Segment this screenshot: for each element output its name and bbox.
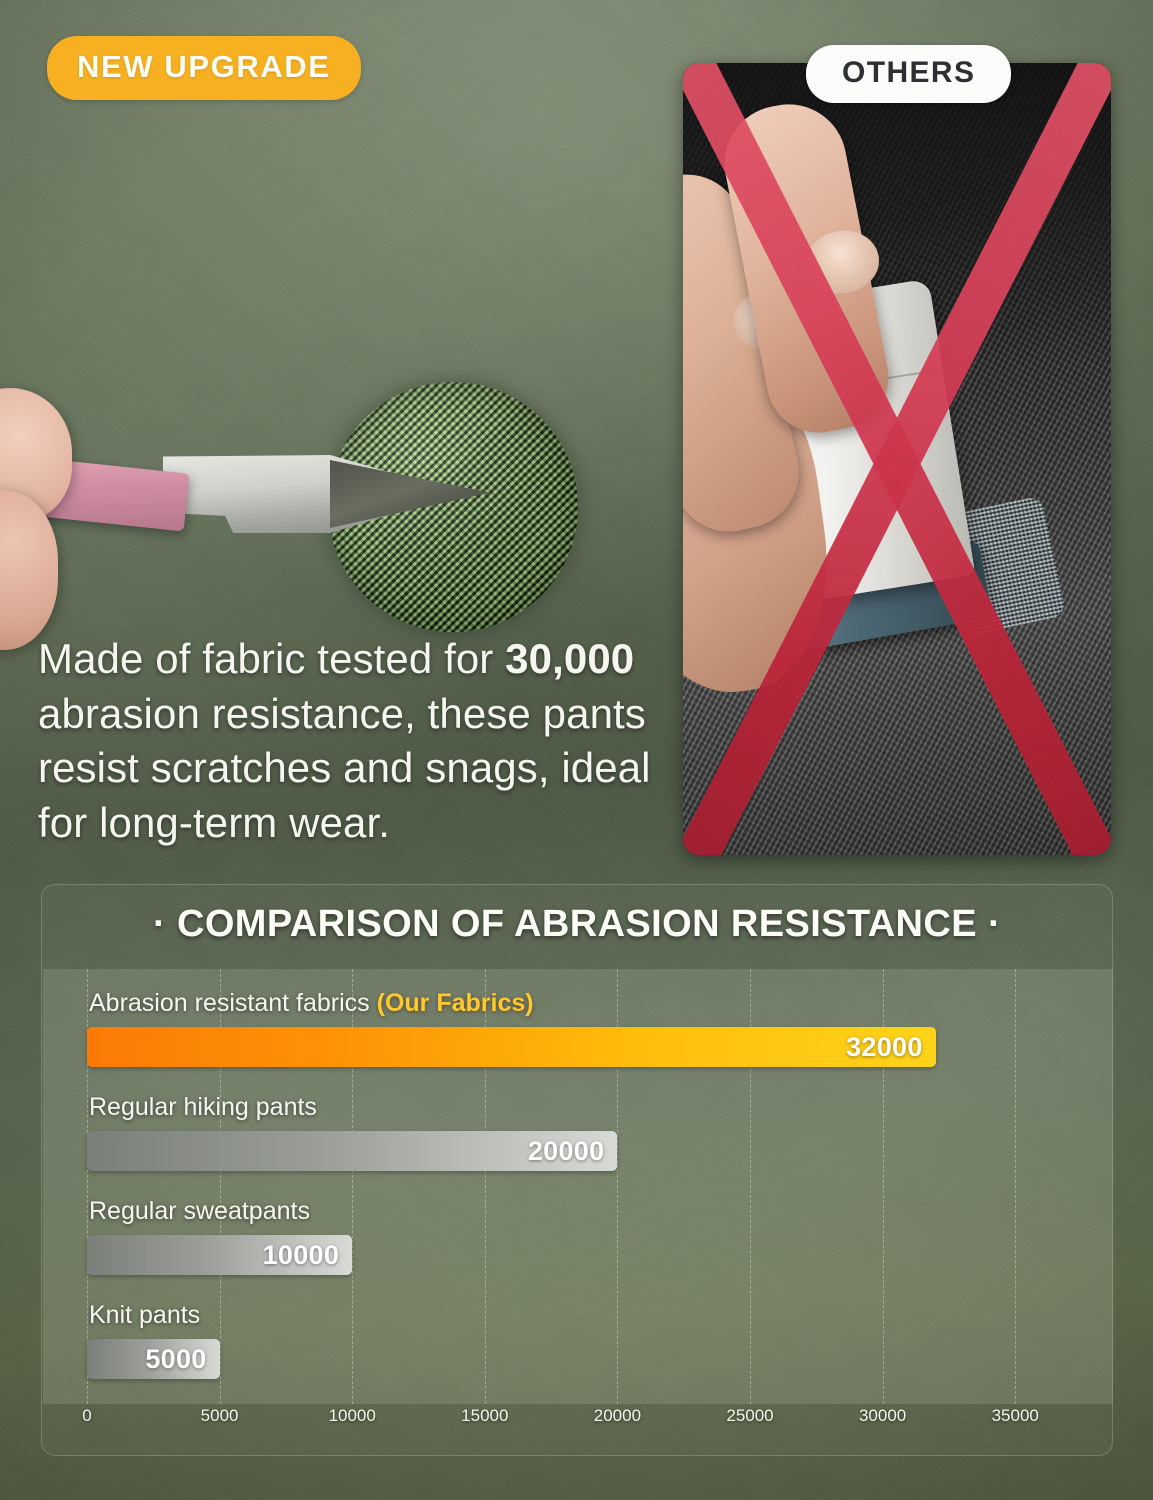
chart-bar-row: Regular hiking pants20000	[43, 1093, 1113, 1183]
bar-label-text: Regular hiking pants	[89, 1093, 317, 1121]
axis-tick-5000: 5000	[201, 1406, 239, 1426]
bar-label-text: Knit pants	[89, 1301, 200, 1329]
bar-value-label: 32000	[846, 1032, 936, 1063]
headline-text: Made of fabric tested for 30,000 abrasio…	[38, 632, 668, 850]
badge-others: OTHERS	[806, 45, 1011, 103]
axis-tick-25000: 25000	[726, 1406, 773, 1426]
bar-label: Regular hiking pants	[89, 1093, 317, 1122]
bar-label: Knit pants	[89, 1301, 200, 1330]
axis-tick-30000: 30000	[859, 1406, 906, 1426]
chart-plot-area: Abrasion resistant fabrics (Our Fabrics)…	[43, 969, 1113, 1404]
axis-tick-20000: 20000	[594, 1406, 641, 1426]
bar-label: Regular sweatpants	[89, 1197, 310, 1226]
infographic-page: NEW UPGRADE OTHERS Made of fabric tested…	[0, 0, 1153, 1500]
bar-label-text: Abrasion resistant fabrics	[89, 989, 377, 1017]
bar-label-accent: (Our Fabrics)	[377, 989, 534, 1017]
chart-bar-row: Abrasion resistant fabrics (Our Fabrics)…	[43, 989, 1113, 1079]
badge-new-upgrade: NEW UPGRADE	[47, 36, 361, 100]
headline-highlight-number: 30,000	[505, 635, 634, 682]
bar-value-label: 5000	[145, 1344, 219, 1375]
bar-label-text: Regular sweatpants	[89, 1197, 310, 1225]
headline-part-2: abrasion resistance, these pants resist …	[38, 690, 651, 846]
axis-tick-15000: 15000	[461, 1406, 508, 1426]
bar-value-label: 20000	[528, 1136, 618, 1167]
chart-bar-row: Regular sweatpants10000	[43, 1197, 1113, 1287]
bar-value-label: 10000	[263, 1240, 353, 1271]
axis-tick-10000: 10000	[329, 1406, 376, 1426]
axis-tick-35000: 35000	[992, 1406, 1039, 1426]
chart-bar-row: Knit pants5000	[43, 1301, 1113, 1391]
chart-title: · COMPARISON OF ABRASION RESISTANCE ·	[42, 903, 1112, 946]
chart-bar: 20000	[87, 1131, 617, 1171]
chart-bar: 32000	[87, 1027, 936, 1067]
bar-label: Abrasion resistant fabrics (Our Fabrics)	[89, 989, 534, 1018]
comparison-chart-panel: · COMPARISON OF ABRASION RESISTANCE · Ab…	[41, 884, 1113, 1456]
chart-x-axis: 05000100001500020000250003000035000	[42, 1406, 1112, 1446]
chart-bar: 10000	[87, 1235, 352, 1275]
headline-part-1: Made of fabric tested for	[38, 635, 505, 682]
axis-tick-0: 0	[82, 1406, 91, 1426]
chart-bar: 5000	[87, 1339, 220, 1379]
